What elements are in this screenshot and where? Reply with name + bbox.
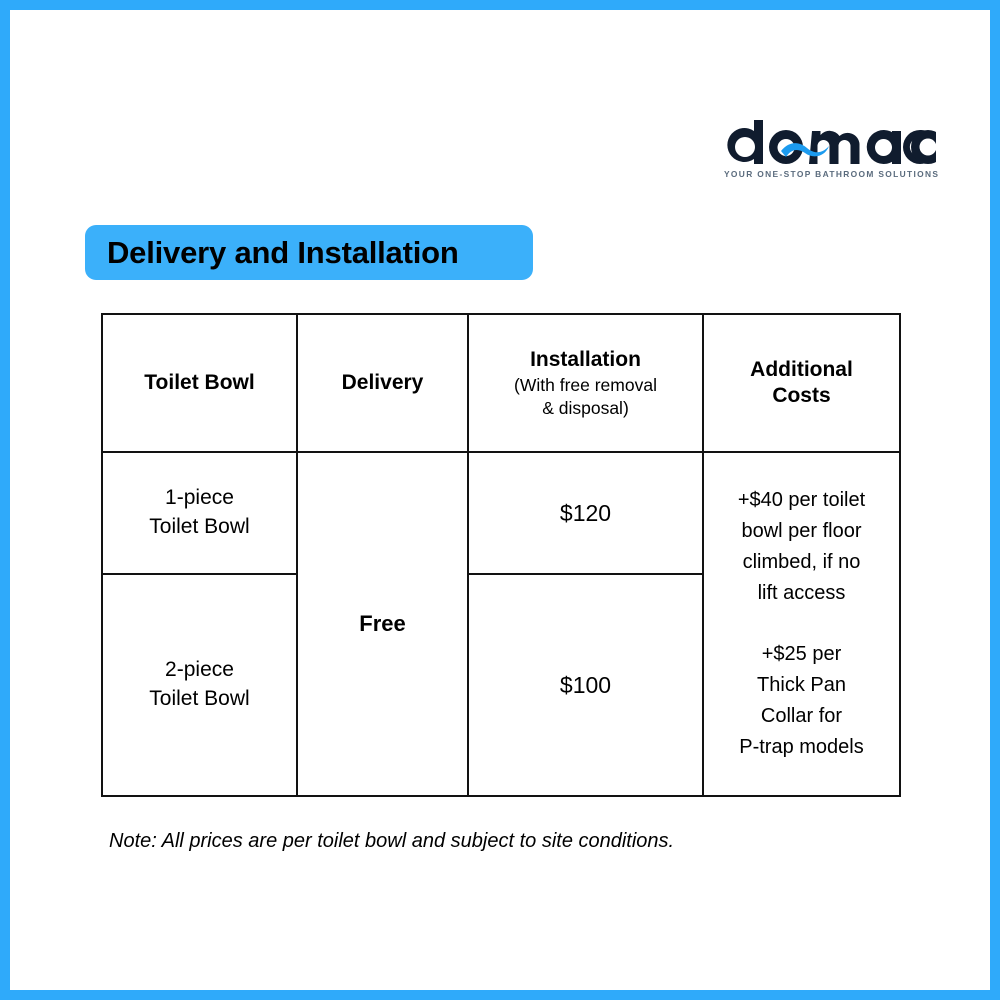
domaco-wordmark-icon — [724, 118, 936, 166]
additional-cost-2-line1: +$25 per — [712, 639, 891, 670]
delivery-value: Free — [298, 611, 467, 637]
header-cell-delivery: Delivery — [297, 314, 468, 452]
header-label-toilet-bowl: Toilet Bowl — [103, 370, 296, 396]
page-title: Delivery and Installation — [107, 237, 459, 268]
installation-price-1piece: $120 — [469, 500, 702, 527]
installation-price-2piece: $100 — [469, 672, 702, 699]
footnote-text: Note: All prices are per toilet bowl and… — [109, 830, 674, 853]
page-frame: YOUR ONE-STOP BATHROOM SOLUTIONS Deliver… — [0, 0, 1000, 1000]
additional-cost-item-2: +$25 per Thick Pan Collar for P-trap mod… — [704, 635, 899, 767]
bowl-type-2piece-line2: Toilet Bowl — [103, 685, 296, 714]
cell-delivery-free: Free — [297, 452, 468, 796]
additional-cost-2-line2: Thick Pan — [712, 670, 891, 701]
additional-cost-1-line4: lift access — [712, 578, 891, 609]
additional-cost-2-line3: Collar for — [712, 701, 891, 732]
cell-installation-price-2piece: $100 — [468, 574, 703, 796]
additional-cost-spacer — [704, 613, 899, 635]
brand-tagline: YOUR ONE-STOP BATHROOM SOLUTIONS — [724, 169, 936, 179]
additional-cost-1-line1: +$40 per toilet — [712, 485, 891, 516]
bowl-type-1piece-line2: Toilet Bowl — [103, 513, 296, 542]
additional-cost-item-1: +$40 per toilet bowl per floor climbed, … — [704, 481, 899, 613]
pricing-table: Toilet Bowl Delivery Installation (With … — [101, 313, 901, 797]
header-sublabel-installation-line2: & disposal) — [469, 398, 702, 419]
header-cell-toilet-bowl: Toilet Bowl — [102, 314, 297, 452]
table-row: 1-piece Toilet Bowl Free $120 +$40 per t… — [102, 452, 900, 574]
header-label-additional-line2: Costs — [704, 383, 899, 409]
section-title-banner: Delivery and Installation — [85, 225, 533, 280]
table-header-row: Toilet Bowl Delivery Installation (With … — [102, 314, 900, 452]
bowl-type-1piece-line1: 1-piece — [103, 484, 296, 513]
header-label-installation: Installation — [469, 347, 702, 373]
additional-cost-1-line3: climbed, if no — [712, 547, 891, 578]
header-label-delivery: Delivery — [298, 370, 467, 396]
cell-additional-costs: +$40 per toilet bowl per floor climbed, … — [703, 452, 900, 796]
page-canvas: YOUR ONE-STOP BATHROOM SOLUTIONS Deliver… — [10, 10, 990, 990]
bowl-type-2piece-line1: 2-piece — [103, 656, 296, 685]
additional-cost-1-line2: bowl per floor — [712, 516, 891, 547]
header-sublabel-installation-line1: (With free removal — [469, 375, 702, 396]
brand-logo: YOUR ONE-STOP BATHROOM SOLUTIONS — [724, 118, 936, 188]
cell-bowl-type-1piece: 1-piece Toilet Bowl — [102, 452, 297, 574]
cell-bowl-type-2piece: 2-piece Toilet Bowl — [102, 574, 297, 796]
cell-installation-price-1piece: $120 — [468, 452, 703, 574]
additional-cost-2-line4: P-trap models — [712, 732, 891, 763]
header-cell-additional-costs: Additional Costs — [703, 314, 900, 452]
header-label-additional-line1: Additional — [704, 357, 899, 383]
header-cell-installation: Installation (With free removal & dispos… — [468, 314, 703, 452]
